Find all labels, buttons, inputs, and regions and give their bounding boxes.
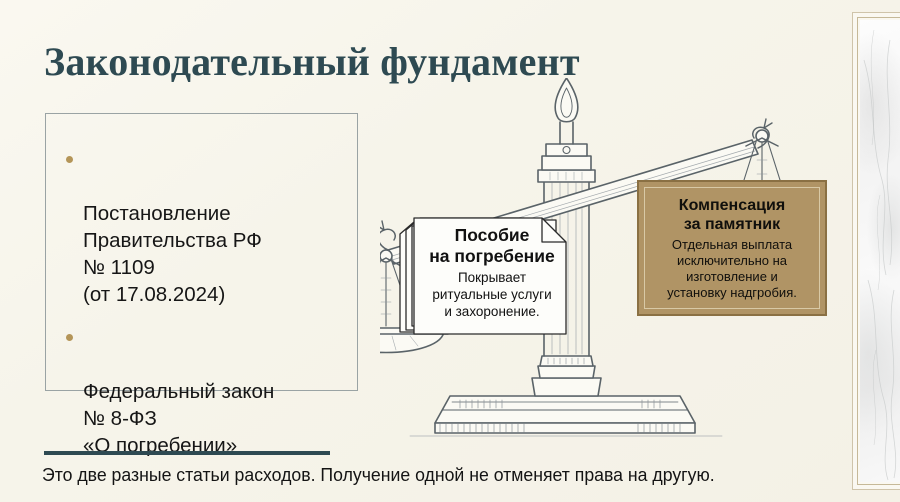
footer-divider — [44, 451, 330, 455]
footer-note: Это две разные статьи расходов. Получени… — [42, 464, 715, 486]
document-label: Пособие на погребение Покрывает ритуальн… — [408, 225, 576, 320]
legislation-list: Постановление Правительства РФ № 1109 (о… — [66, 146, 347, 475]
list-item-text: Федеральный закон № 8-ФЗ «О погребении» — [83, 380, 274, 457]
list-item: Постановление Правительства РФ № 1109 (о… — [66, 146, 347, 308]
document-subtitle: Покрывает ритуальные услуги и захоронени… — [408, 269, 576, 320]
bullet-dot-icon — [66, 334, 73, 341]
marble-accent-panel — [852, 12, 900, 490]
plaque-title: Компенсация за памятник — [679, 196, 785, 234]
list-item-text: Постановление Правительства РФ № 1109 (о… — [83, 202, 262, 306]
compensation-plaque: Компенсация за памятник Отдельная выплат… — [637, 180, 827, 316]
legislation-box: Постановление Правительства РФ № 1109 (о… — [45, 113, 358, 391]
bullet-dot-icon — [66, 156, 73, 163]
marble-texture — [860, 20, 900, 482]
slide-root: Законодательный фундамент Постановление … — [0, 0, 900, 502]
document-title: Пособие на погребение — [408, 225, 576, 267]
plaque-inner-frame: Компенсация за памятник Отдельная выплат… — [644, 187, 820, 309]
plaque-subtitle: Отдельная выплата исключительно на изгот… — [667, 237, 797, 301]
list-item: Федеральный закон № 8-ФЗ «О погребении» — [66, 324, 347, 459]
